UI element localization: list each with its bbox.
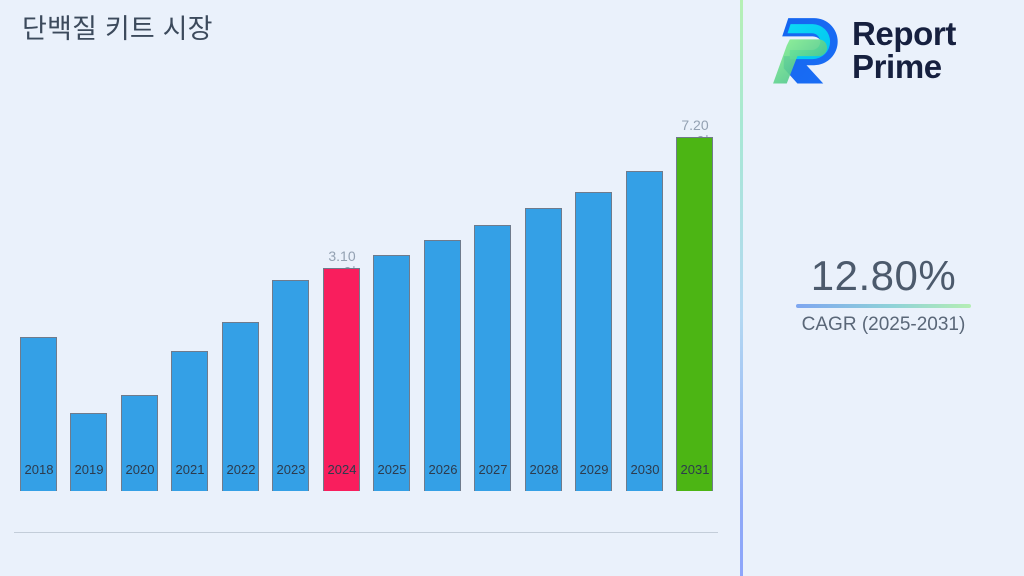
logo-line-report: Report [852, 17, 956, 50]
bar-slot-2026: 2026 [418, 0, 468, 491]
bar-slot-2030: 2030 [620, 0, 670, 491]
bar-2019[interactable] [70, 413, 107, 491]
report-prime-logo: Report Prime [767, 10, 1007, 90]
bar-2025[interactable] [373, 255, 410, 491]
cagr-divider-rule [796, 304, 971, 308]
logo-line-prime: Prime [852, 50, 956, 83]
bar-2030[interactable] [626, 171, 663, 491]
bar-slot-2025: 2025 [367, 0, 417, 491]
bar-slot-2023: 2023 [266, 0, 316, 491]
bar-2024[interactable] [323, 268, 360, 491]
bar-slot-2020: 2020 [115, 0, 165, 491]
bar-2027[interactable] [474, 225, 511, 491]
bar-slot-2022: 2022 [216, 0, 266, 491]
cagr-value: 12.80% [743, 250, 1024, 302]
bar-slot-2027: 2027 [468, 0, 518, 491]
bar-slot-2031: 7.20 10억 2031 [670, 0, 720, 491]
report-prime-logo-text: Report Prime [852, 17, 956, 83]
side-panel: Report Prime 12.80% CAGR (2025-2031) [743, 0, 1024, 576]
bar-slot-2018: 2018 [14, 0, 64, 491]
bar-value-label-2024-line1: 3.10 [309, 248, 375, 265]
bar-2029[interactable] [575, 192, 612, 491]
chart-panel: 단백질 키트 시장 2018 2019 2020 2021 [0, 0, 740, 576]
bar-slot-2029: 2029 [569, 0, 619, 491]
bar-slot-2019: 2019 [64, 0, 114, 491]
bar-2026[interactable] [424, 240, 461, 491]
report-prime-logo-mark [767, 12, 843, 88]
bar-2028[interactable] [525, 208, 562, 491]
bar-2031[interactable] [676, 137, 713, 491]
bar-chart-plot: 2018 2019 2020 2021 2022 [0, 0, 740, 534]
bar-slot-2024: 3.10 10억 2024 [317, 0, 367, 491]
x-axis-line [14, 532, 718, 533]
bar-2023[interactable] [272, 280, 309, 491]
bar-slot-2028: 2028 [519, 0, 569, 491]
chart-screenshot: 단백질 키트 시장 2018 2019 2020 2021 [0, 0, 1024, 576]
cagr-block: 12.80% CAGR (2025-2031) [743, 250, 1024, 337]
x-tick-2031: 2031 [662, 462, 728, 477]
cagr-caption: CAGR (2025-2031) [743, 312, 1024, 337]
bar-value-label-2031-line1: 7.20 [662, 117, 728, 134]
bar-slot-2021: 2021 [165, 0, 215, 491]
